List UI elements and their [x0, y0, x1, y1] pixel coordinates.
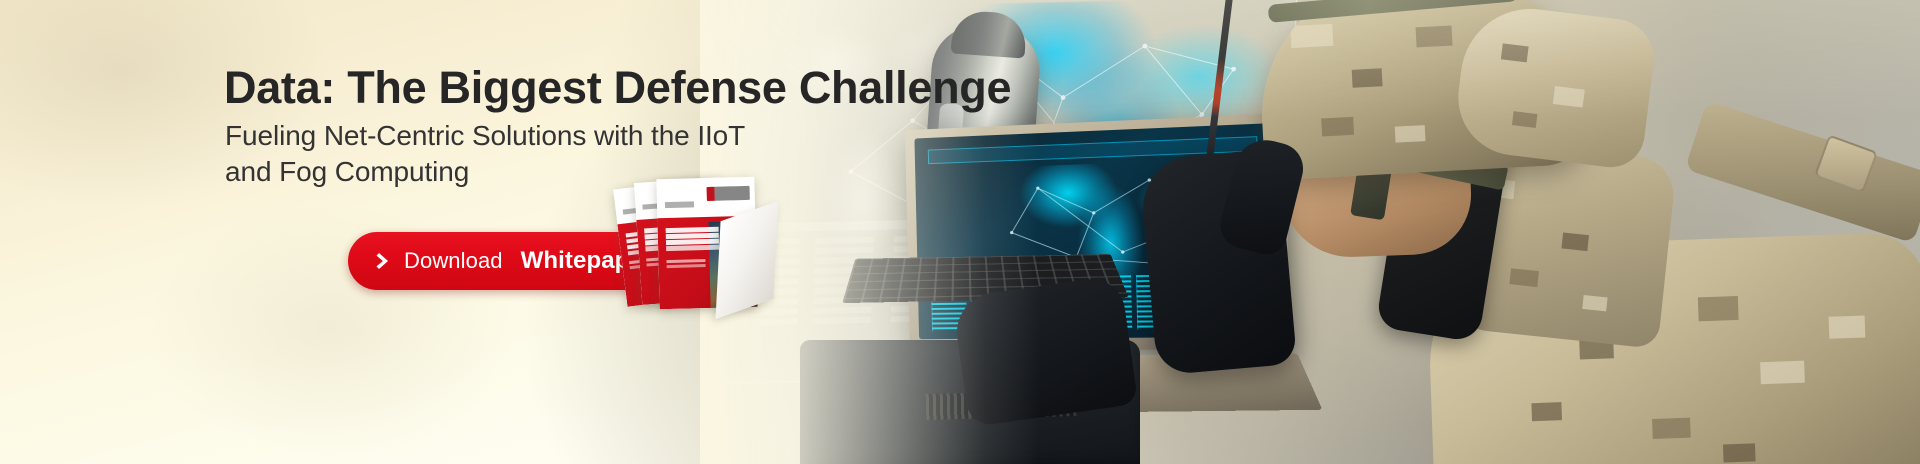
- chevron-right-icon: [374, 251, 394, 271]
- cta-action-label: Download: [404, 248, 503, 274]
- banner-headline: Data: The Biggest Defense Challenge: [224, 62, 1011, 114]
- promo-banner: Data: The Biggest Defense Challenge Fuel…: [0, 0, 1920, 464]
- whitepaper-page-fold: [716, 201, 779, 319]
- whitepaper-logo-icon: [707, 186, 750, 201]
- radio-antenna: [1204, 0, 1235, 176]
- soldier-figure: [1130, 0, 1920, 464]
- pack-strap: [1685, 101, 1920, 244]
- whitepaper-mockup: [614, 178, 804, 324]
- banner-content: Data: The Biggest Defense Challenge Fuel…: [224, 0, 984, 464]
